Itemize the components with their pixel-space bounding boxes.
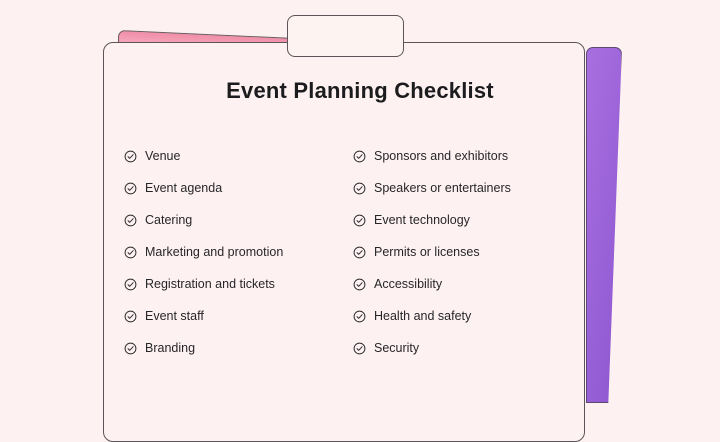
checklist-column-right: Sponsors and exhibitorsSpeakers or enter… [353, 140, 568, 364]
check-circle-icon[interactable] [353, 214, 366, 227]
checklist-item[interactable]: Permits or licenses [353, 236, 568, 268]
checklist-item[interactable]: Sponsors and exhibitors [353, 140, 568, 172]
checklist-item-label: Event agenda [145, 182, 222, 195]
check-circle-icon[interactable] [353, 182, 366, 195]
checklist-item-label: Health and safety [374, 310, 471, 323]
check-circle-icon[interactable] [124, 310, 137, 323]
checklist-item-label: Speakers or entertainers [374, 182, 511, 195]
checklist-item[interactable]: Accessibility [353, 268, 568, 300]
checklist-item[interactable]: Venue [124, 140, 339, 172]
checklist-item[interactable]: Health and safety [353, 300, 568, 332]
checklist-item-label: Registration and tickets [145, 278, 275, 291]
check-circle-icon[interactable] [124, 150, 137, 163]
checklist-item[interactable]: Branding [124, 332, 339, 364]
check-circle-icon[interactable] [353, 278, 366, 291]
check-circle-icon[interactable] [353, 246, 366, 259]
check-circle-icon[interactable] [124, 342, 137, 355]
checklist-item[interactable]: Marketing and promotion [124, 236, 339, 268]
check-circle-icon[interactable] [124, 246, 137, 259]
check-circle-icon[interactable] [353, 310, 366, 323]
clipboard-clip[interactable] [287, 15, 404, 57]
checklist-item-label: Branding [145, 342, 195, 355]
check-circle-icon[interactable] [353, 342, 366, 355]
checklist-item-label: Sponsors and exhibitors [374, 150, 508, 163]
checklist-item-label: Event staff [145, 310, 204, 323]
checklist-item-label: Event technology [374, 214, 470, 227]
checklist-item-label: Venue [145, 150, 180, 163]
checklist-item[interactable]: Event staff [124, 300, 339, 332]
check-circle-icon[interactable] [124, 214, 137, 227]
checklist-item-label: Permits or licenses [374, 246, 480, 259]
checklist-column-left: VenueEvent agendaCateringMarketing and p… [124, 140, 339, 364]
check-circle-icon[interactable] [124, 278, 137, 291]
checklist-item[interactable]: Registration and tickets [124, 268, 339, 300]
checklist-item[interactable]: Event agenda [124, 172, 339, 204]
check-circle-icon[interactable] [353, 150, 366, 163]
check-circle-icon[interactable] [124, 182, 137, 195]
checklist-item[interactable]: Speakers or entertainers [353, 172, 568, 204]
checklist-graphic: Event Planning Checklist VenueEvent agen… [0, 0, 720, 401]
checklist-item[interactable]: Security [353, 332, 568, 364]
checklist-item-label: Accessibility [374, 278, 442, 291]
checklist-item[interactable]: Catering [124, 204, 339, 236]
checklist-item-label: Security [374, 342, 419, 355]
checklist-item[interactable]: Event technology [353, 204, 568, 236]
checklist-item-label: Marketing and promotion [145, 246, 283, 259]
checklist-item-label: Catering [145, 214, 192, 227]
page-title: Event Planning Checklist [0, 78, 720, 104]
